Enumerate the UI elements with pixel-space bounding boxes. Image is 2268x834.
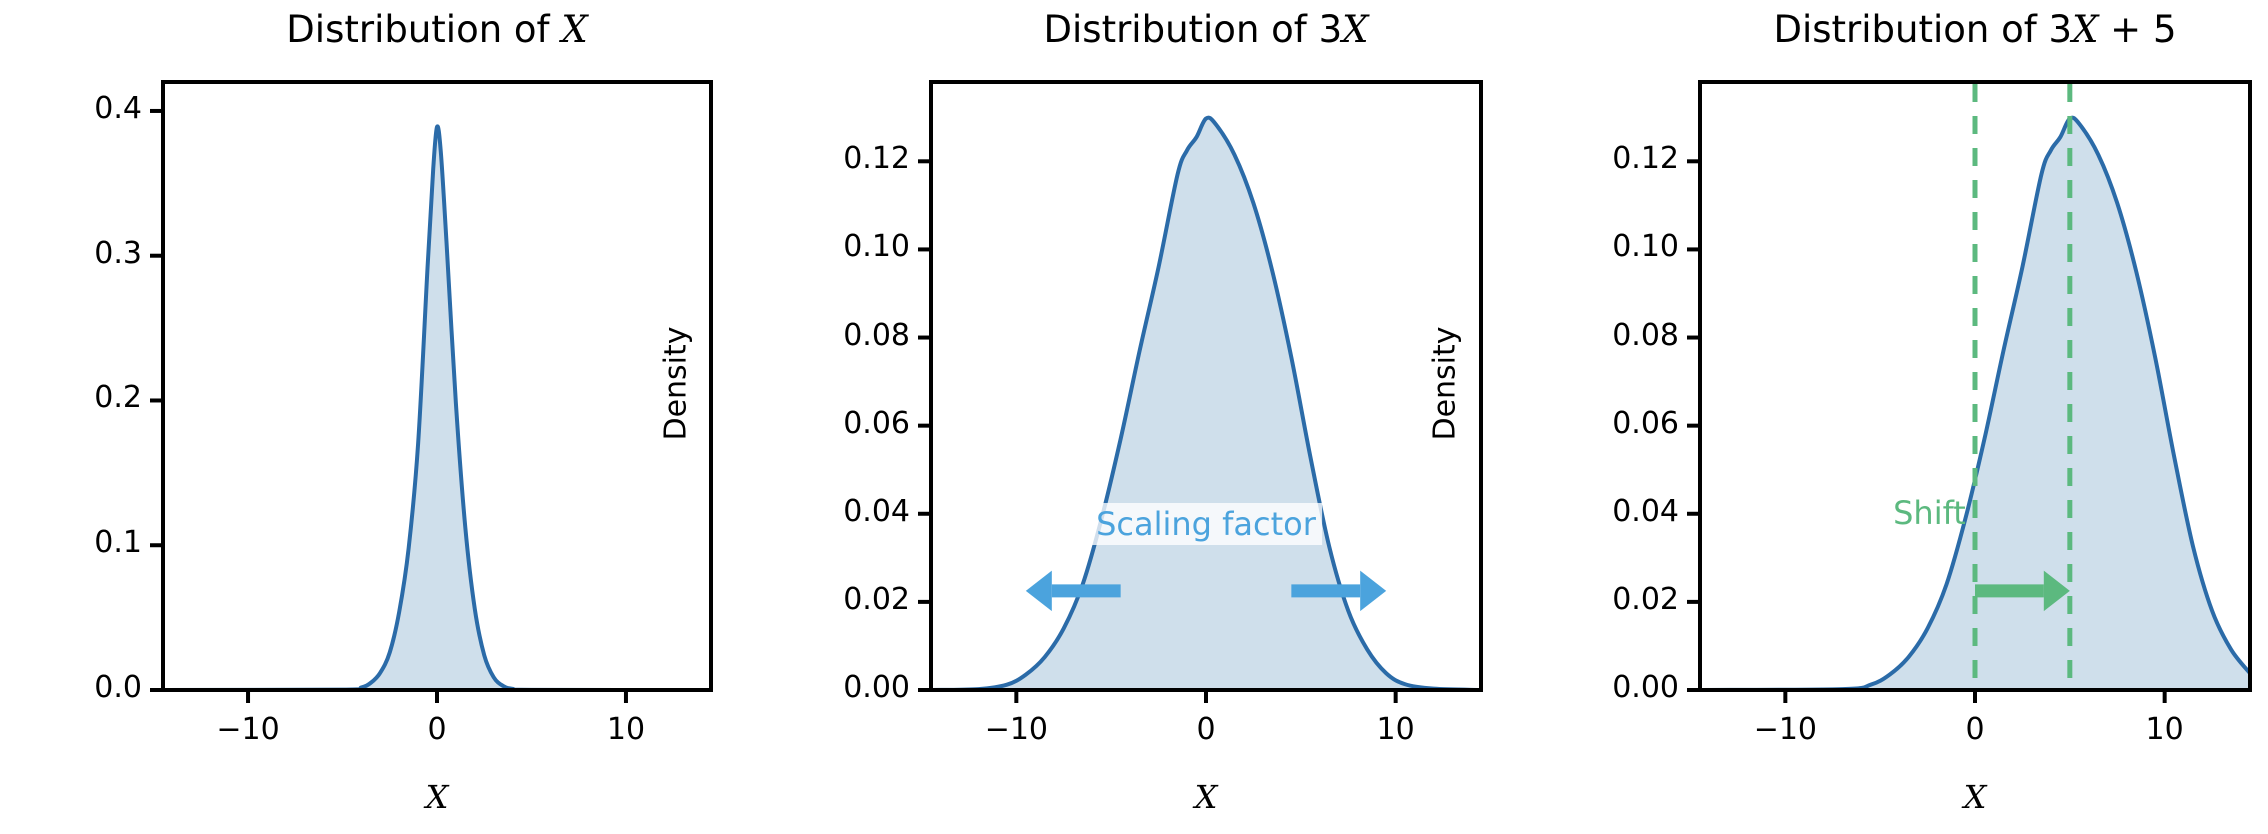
title-prefix: Distribution of 3 [1773, 8, 2072, 51]
x-tick-label: 0 [1895, 712, 2055, 747]
y-tick-label: 0.02 [1519, 582, 1679, 617]
chart-panel-panel-3x-plus-5: Distribution of 3X + 50.000.020.040.060.… [0, 0, 2268, 834]
figure-canvas: Distribution of X0.00.10.20.30.4−10010De… [0, 0, 2268, 834]
title-variable: X [2072, 8, 2098, 51]
y-tick-label: 0.08 [1519, 318, 1679, 353]
y-axis-label: Density [1428, 234, 1463, 534]
shift-annotation: Shift [1893, 494, 1966, 532]
title-suffix: + 5 [2098, 8, 2176, 51]
y-tick-label: 0.04 [1519, 494, 1679, 529]
y-tick-label: 0.06 [1519, 406, 1679, 441]
x-axis-label: X [1700, 778, 2250, 816]
panel-title-panel-3x-plus-5: Distribution of 3X + 5 [1700, 8, 2250, 51]
x-tick-label: 10 [2085, 712, 2245, 747]
x-tick-label: −10 [1705, 712, 1865, 747]
plot-area-panel-3x-plus-5 [0, 0, 2268, 834]
y-tick-label: 0.00 [1519, 670, 1679, 705]
y-tick-label: 0.10 [1519, 229, 1679, 264]
y-tick-label: 0.12 [1519, 141, 1679, 176]
